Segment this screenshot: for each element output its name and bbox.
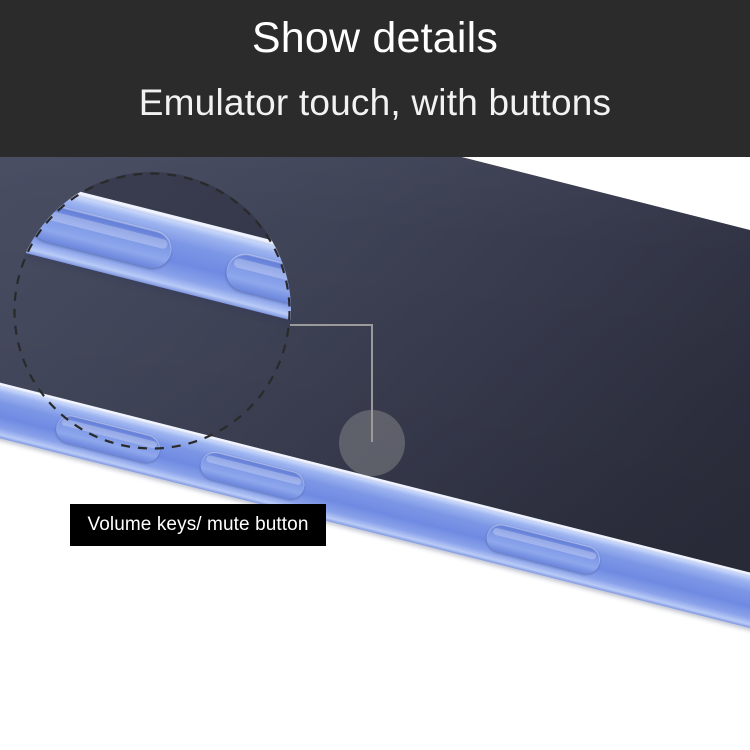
touch-point-indicator [339, 410, 405, 476]
page-title: Show details [0, 12, 750, 64]
magnified-device [13, 172, 291, 450]
callout-label-box: Volume keys/ mute button [70, 504, 326, 546]
callout-label-text: Volume keys/ mute button [87, 514, 308, 536]
magnified-volume-down-button[interactable] [222, 250, 291, 322]
magnifier-circle [13, 172, 291, 450]
screenshot-canvas: Volume keys/ mute button Show de [0, 0, 750, 750]
header-banner: Show details Emulator touch, with button… [0, 0, 750, 157]
page-subtitle: Emulator touch, with buttons [0, 79, 750, 127]
magnifier-content [13, 172, 291, 450]
